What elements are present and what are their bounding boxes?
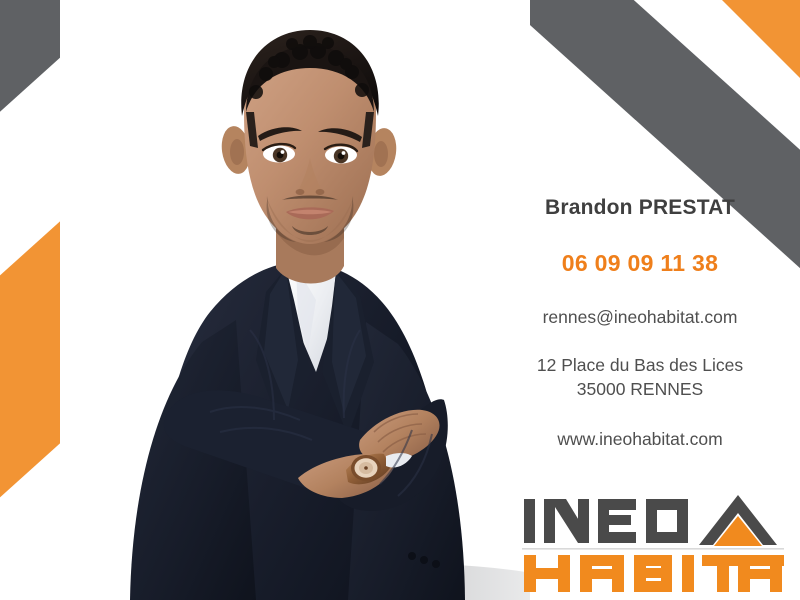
contact-website[interactable]: www.ineohabitat.com	[480, 429, 800, 450]
company-logo[interactable]	[522, 487, 784, 592]
business-card: Brandon PRESTAT 06 09 09 11 38 rennes@in…	[0, 0, 800, 600]
logo-habitat-text	[524, 555, 784, 592]
contact-name: Brandon PRESTAT	[480, 196, 800, 220]
contact-address: 12 Place du Bas des Lices 35000 RENNES	[480, 354, 800, 401]
portrait-photo	[60, 0, 530, 600]
address-line-2: 35000 RENNES	[480, 378, 800, 402]
contact-info-panel: Brandon PRESTAT 06 09 09 11 38 rennes@in…	[480, 196, 800, 450]
logo-separator	[522, 548, 784, 550]
contact-phone[interactable]: 06 09 09 11 38	[480, 250, 800, 277]
roof-chevron-icon	[699, 495, 777, 546]
address-line-1: 12 Place du Bas des Lices	[480, 354, 800, 378]
decorative-corner-top-right-orange	[722, 0, 800, 78]
contact-email[interactable]: rennes@ineohabitat.com	[480, 307, 800, 328]
logo-ineo-text	[524, 499, 688, 543]
